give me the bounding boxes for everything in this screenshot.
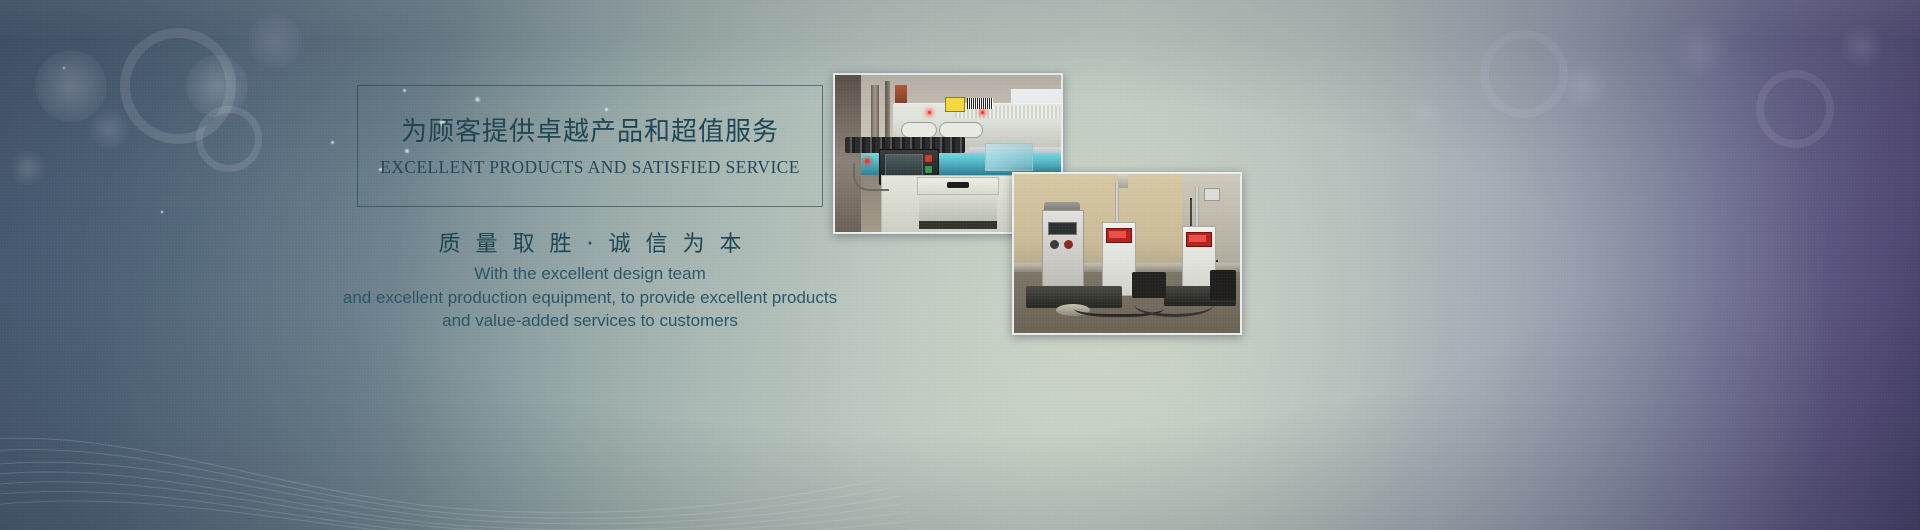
bokeh-circle (1756, 70, 1834, 148)
bokeh-circle (1408, 96, 1442, 130)
banner-text-block: 为顾客提供卓越产品和超值服务 EXCELLENT PRODUCTS AND SA… (0, 0, 860, 530)
headline-chinese: 为顾客提供卓越产品和超值服务 (357, 111, 823, 148)
paragraph-line-2: and excellent production equipment, to p… (250, 286, 930, 310)
paragraph-line-3: and value-added services to customers (250, 309, 930, 333)
company-slogan-banner: 为顾客提供卓越产品和超值服务 EXCELLENT PRODUCTS AND SA… (0, 0, 1920, 530)
laboratory-test-equipment-photo (1012, 172, 1242, 335)
description-paragraph: With the excellent design team and excel… (250, 262, 930, 333)
headline-english: EXCELLENT PRODUCTS AND SATISFIED SERVICE (357, 157, 823, 178)
bokeh-circle (1840, 24, 1884, 68)
bokeh-circle (1560, 62, 1608, 110)
bokeh-circle (1480, 30, 1568, 118)
paragraph-line-1: With the excellent design team (250, 262, 930, 286)
slogan-chinese: 质量取胜·诚信为本 (357, 226, 823, 258)
bokeh-circle (1670, 20, 1728, 78)
